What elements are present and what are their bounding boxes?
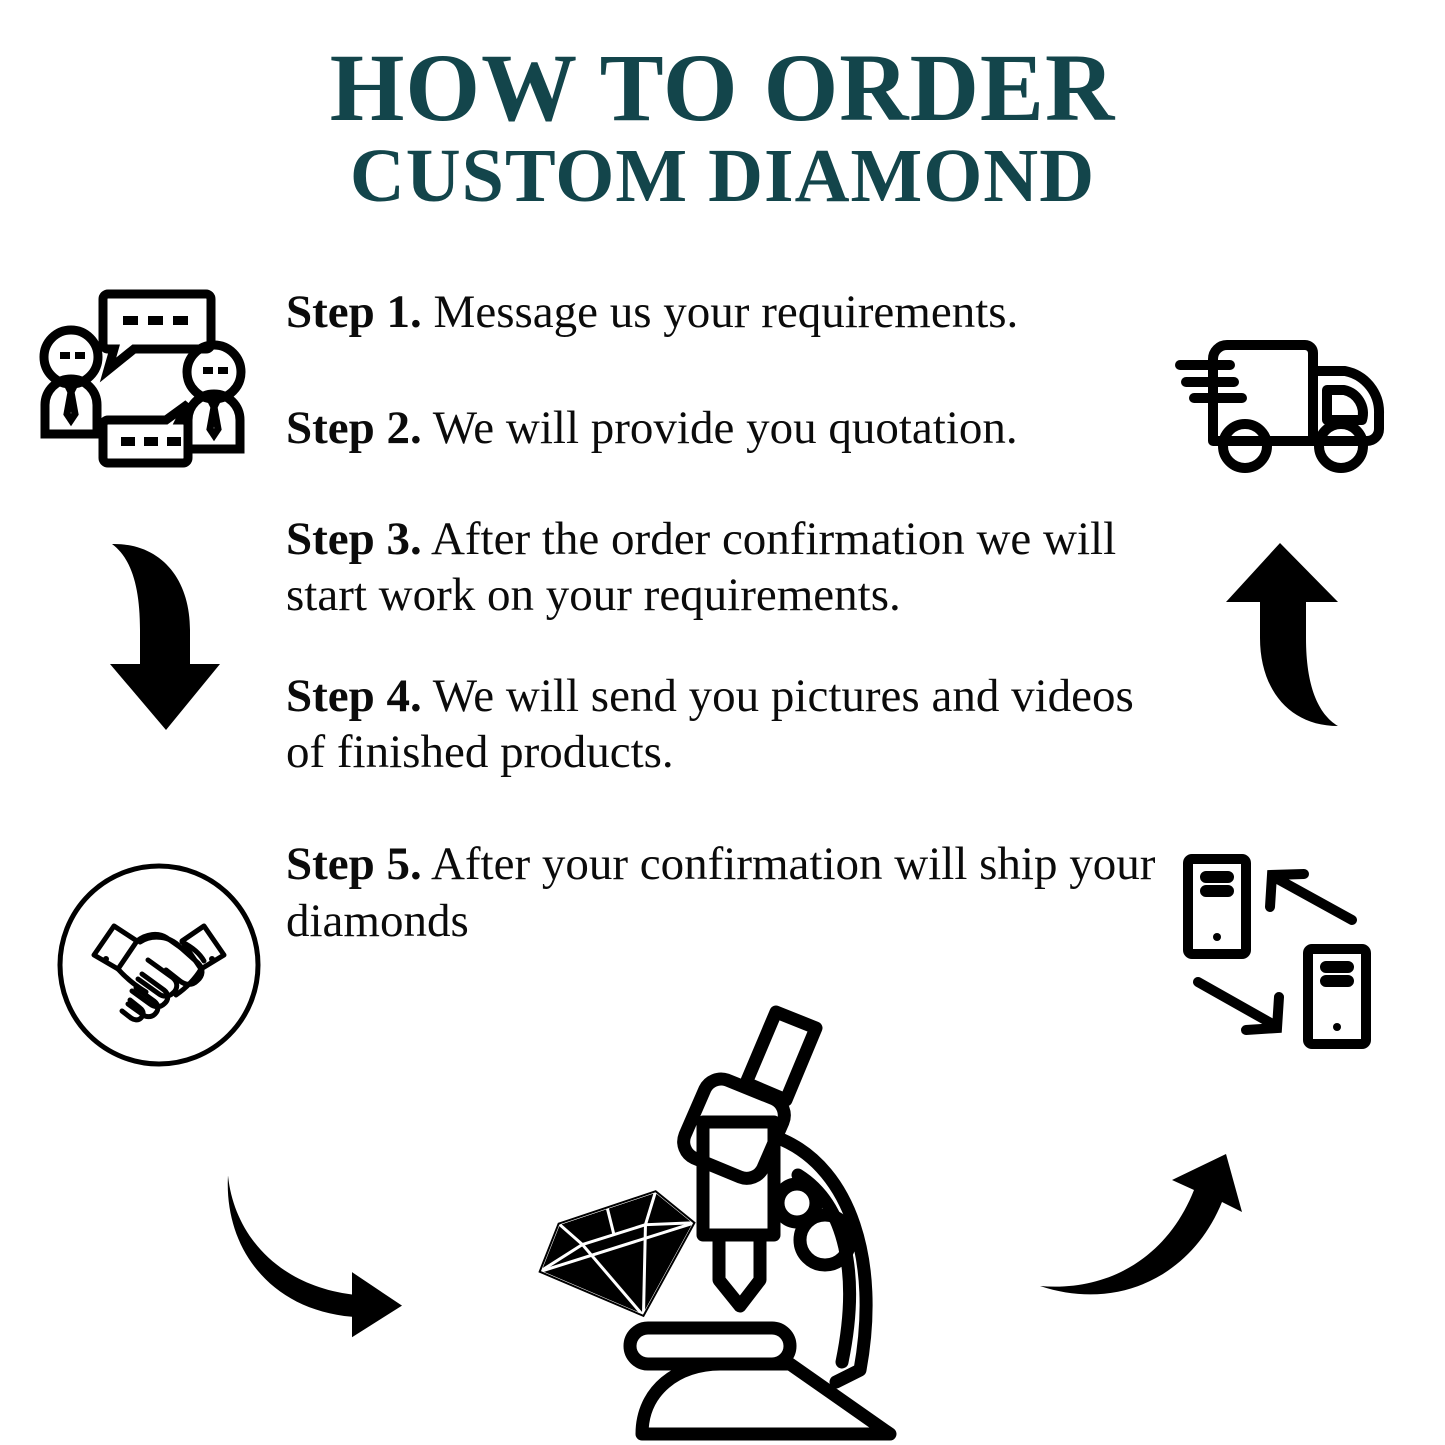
curved-arrow-up-icon	[1218, 538, 1350, 732]
step-4-label: Step 4.	[286, 670, 422, 722]
devices-exchange-icon	[1166, 845, 1384, 1057]
step-item-5: Step 5. After your confirmation will shi…	[286, 836, 1181, 949]
curved-arrow-down-icon	[98, 534, 252, 738]
steps-list: Step 1. Message us your requirements. St…	[286, 284, 1181, 949]
step-2-label: Step 2.	[286, 402, 422, 454]
step-3-label: Step 3.	[286, 513, 422, 565]
consultation-people-chat-icon	[38, 282, 250, 472]
curved-arrow-upper-right-icon	[1026, 1146, 1250, 1318]
step-2-text: We will provide you quotation.	[422, 402, 1018, 454]
handshake-circle-icon	[52, 862, 266, 1068]
step-item-3: Step 3. After the order confirmation we …	[286, 511, 1181, 624]
step-item-2: Step 2. We will provide you quotation.	[286, 400, 1181, 456]
delivery-truck-icon	[1172, 326, 1394, 478]
step-5-label: Step 5.	[286, 838, 422, 890]
title-line-2: CUSTOM DIAMOND	[0, 140, 1445, 213]
step-1-label: Step 1.	[286, 286, 422, 338]
page-title: HOW TO ORDER CUSTOM DIAMOND	[0, 42, 1445, 213]
title-line-1: HOW TO ORDER	[0, 42, 1445, 134]
curved-arrow-bottom-right-icon	[206, 1176, 430, 1348]
diamond-gem-icon	[524, 1180, 714, 1330]
step-item-1: Step 1. Message us your requirements.	[286, 284, 1181, 340]
step-1-text: Message us your requirements.	[422, 286, 1019, 338]
infographic-canvas: HOW TO ORDER CUSTOM DIAMOND Step 1. Mess…	[0, 0, 1445, 1445]
step-item-4: Step 4. We will send you pictures and vi…	[286, 668, 1181, 781]
